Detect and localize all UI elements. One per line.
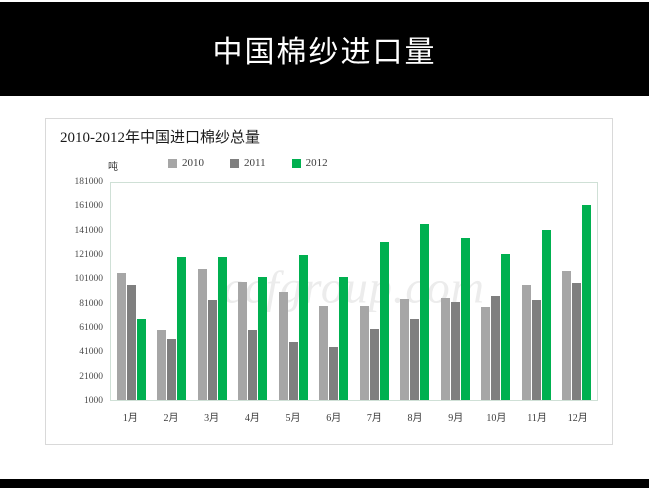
bar-2010-11月 [522,285,531,400]
plot-area: ccfgroup.com [110,182,598,401]
legend-label: 2012 [306,157,328,169]
bar-2011-8月 [410,319,419,400]
y-axis-unit-label: 吨 [108,158,118,173]
bar-2011-4月 [248,330,257,400]
bar-group-7月 [354,183,395,400]
x-axis-tick-label: 6月 [313,401,354,425]
bar-2011-1月 [127,285,136,400]
x-axis-tick-label: 9月 [435,401,476,425]
y-axis-tick-label: 41000 [79,347,103,357]
bar-2010-2月 [157,330,166,400]
x-axis-tick-label: 11月 [517,401,558,425]
bar-group-4月 [233,183,274,400]
bar-group-10月 [476,183,517,400]
chart-card: 2010-2012年中国进口棉纱总量 吨 201020112012 181000… [45,118,613,445]
bar-2010-8月 [400,299,409,400]
legend-swatch-icon [292,159,301,168]
bar-group-6月 [314,183,355,400]
x-axis-tick-label: 8月 [395,401,436,425]
bar-2012-9月 [461,238,470,400]
bar-2011-10月 [491,296,500,400]
legend-item-2010: 2010 [168,157,204,169]
bar-2010-6月 [319,306,328,400]
legend-label: 2010 [182,157,204,169]
bar-2012-5月 [299,255,308,400]
bar-2010-7月 [360,306,369,400]
chart-title: 2010-2012年中国进口棉纱总量 [60,126,260,147]
bar-2011-9月 [451,302,460,400]
bar-group-1月 [111,183,152,400]
legend-swatch-icon [168,159,177,168]
bar-2011-7月 [370,329,379,400]
bar-2012-8月 [420,224,429,400]
x-axis-tick-label: 12月 [557,401,598,425]
bar-2010-9月 [441,298,450,400]
bar-2012-4月 [258,277,267,400]
bar-2010-12月 [562,271,571,400]
y-axis-tick-label: 181000 [75,177,104,187]
bars-layer [111,183,597,400]
bar-2012-3月 [218,257,227,400]
y-axis-tick-label: 61000 [79,323,103,333]
x-axis-tick-label: 7月 [354,401,395,425]
x-axis-tick-label: 1月 [110,401,151,425]
plot-wrapper: 1810001610001410001210001010008100061000… [59,182,599,412]
x-axis-tick-label: 2月 [151,401,192,425]
chart-legend: 201020112012 [168,157,328,169]
y-axis-tick-label: 1000 [84,396,103,406]
bar-group-12月 [557,183,598,400]
y-axis-tick-label: 81000 [79,299,103,309]
bar-2011-12月 [572,283,581,400]
y-axis: 1810001610001410001210001010008100061000… [59,182,107,401]
bar-2010-4月 [238,282,247,400]
bar-2012-7月 [380,242,389,400]
y-axis-tick-label: 101000 [75,274,104,284]
bar-2010-1月 [117,273,126,400]
bar-2012-6月 [339,277,348,400]
bar-2011-5月 [289,342,298,400]
bar-group-3月 [192,183,233,400]
legend-item-2011: 2011 [230,157,266,169]
legend-swatch-icon [230,159,239,168]
bar-2010-3月 [198,269,207,400]
x-axis-tick-label: 4月 [232,401,273,425]
bar-2010-5月 [279,292,288,401]
bar-2011-2月 [167,339,176,400]
y-axis-tick-label: 141000 [75,226,104,236]
legend-label: 2011 [244,157,266,169]
x-axis-tick-label: 3月 [191,401,232,425]
bar-group-8月 [395,183,436,400]
bar-2011-6月 [329,347,338,400]
bar-2011-11月 [532,300,541,400]
y-axis-tick-label: 161000 [75,201,104,211]
x-axis-tick-label: 5月 [273,401,314,425]
bar-2010-10月 [481,307,490,400]
bar-group-5月 [273,183,314,400]
bar-2012-2月 [177,257,186,400]
x-axis-tick-label: 10月 [476,401,517,425]
header-banner: 中国棉纱进口量 [0,2,649,96]
legend-item-2012: 2012 [292,157,328,169]
page-title: 中国棉纱进口量 [213,27,437,71]
bar-2012-12月 [582,205,591,400]
bar-group-11月 [516,183,557,400]
y-axis-tick-label: 21000 [79,372,103,382]
bar-2012-11月 [542,230,551,400]
bar-group-2月 [152,183,193,400]
footer-strip [0,479,649,488]
bar-2012-1月 [137,319,146,400]
bar-2011-3月 [208,300,217,400]
x-axis: 1月2月3月4月5月6月7月8月9月10月11月12月 [110,401,598,425]
y-axis-tick-label: 121000 [75,250,104,260]
bar-2012-10月 [501,254,510,400]
bar-group-9月 [435,183,476,400]
